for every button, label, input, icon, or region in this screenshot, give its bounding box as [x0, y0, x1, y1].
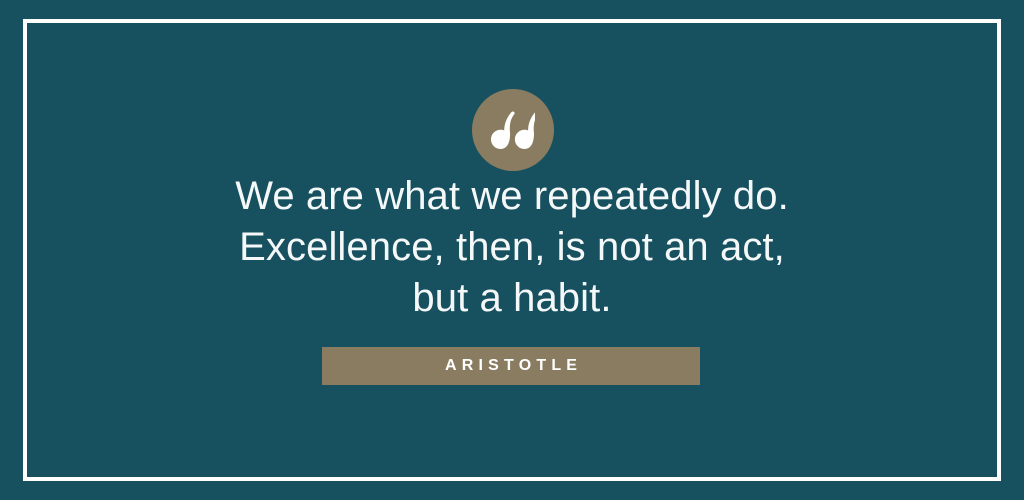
quote-line-3: but a habit.	[0, 273, 1024, 324]
author-name: ARISTOTLE	[440, 357, 582, 375]
quote-badge	[472, 89, 554, 171]
quote-line-2: Excellence, then, is not an act,	[0, 222, 1024, 273]
quote-text: We are what we repeatedly do. Excellence…	[0, 171, 1024, 324]
quote-card: We are what we repeatedly do. Excellence…	[0, 0, 1024, 500]
quote-content: We are what we repeatedly do. Excellence…	[0, 0, 1024, 500]
quote-line-1: We are what we repeatedly do.	[0, 171, 1024, 222]
double-quote-icon	[491, 111, 535, 149]
attribution-banner: ARISTOTLE	[322, 347, 700, 385]
